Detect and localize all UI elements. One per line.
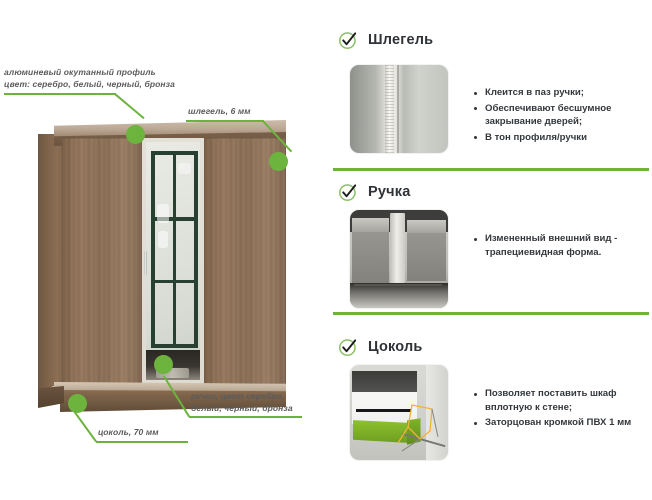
door-panel-right xyxy=(407,220,446,281)
window-mullion-horizontal-2 xyxy=(155,280,194,284)
feature-bullets-shlegel: Клеится в паз ручки; Обеспечивают бесшум… xyxy=(473,86,645,146)
callout-shlegel-marker xyxy=(269,152,288,171)
annotation-overlay xyxy=(350,365,448,460)
feature-section-shlegel: Шлегель Клеится в паз ручки; Обеспечиваю… xyxy=(330,0,652,170)
mirror-door-handle xyxy=(144,251,147,275)
reflected-window-frame xyxy=(151,151,198,348)
list-item: Обеспечивают бесшумное закрывание дверей… xyxy=(473,102,645,129)
callout-plinth-marker xyxy=(68,394,87,413)
check-circle-icon xyxy=(338,337,358,357)
mirror-glare-1 xyxy=(157,204,169,223)
feature-photo-ruchka xyxy=(350,210,448,308)
brush-strip xyxy=(385,65,394,153)
window-mullion-vertical xyxy=(173,155,177,344)
profile-seam xyxy=(397,65,399,153)
callout-profile-line2: цвет: серебро, белый, черный, бронза xyxy=(4,79,175,90)
photo-rail xyxy=(354,284,442,286)
callout-shlegel-underline xyxy=(186,120,264,122)
callout-profile-marker xyxy=(126,125,145,144)
check-circle-icon xyxy=(338,182,358,202)
callout-handles-underline xyxy=(189,416,302,418)
callout-profile-leader-line xyxy=(114,93,144,119)
product-illustration-panel: алюминевый окутанный профиль цвет: сереб… xyxy=(0,0,330,500)
mirror-glare-3 xyxy=(178,163,191,174)
feature-section-ruchka: Ручка Измененный внешний вид - трапециев… xyxy=(330,170,652,315)
door-panel-right-top xyxy=(407,220,446,233)
callout-profile-underline xyxy=(4,93,116,95)
feature-photo-shlegel xyxy=(350,65,448,153)
list-item: Клеится в паз ручки; xyxy=(473,86,645,100)
mirror-surface xyxy=(146,142,200,380)
feature-title-shlegel: Шлегель xyxy=(368,32,433,48)
mirror-door-frame xyxy=(142,138,204,384)
list-item: Измененный внешний вид - трапециевидная … xyxy=(473,232,645,259)
mirror-glare-2 xyxy=(158,231,168,248)
features-panel: Шлегель Клеится в паз ручки; Обеспечиваю… xyxy=(330,0,652,500)
door-panel-left-top xyxy=(352,218,389,232)
feature-heading-ruchka: Ручка xyxy=(338,182,410,202)
callout-profile-line1: алюминевый окутанный профиль xyxy=(4,67,156,78)
feature-title-ruchka: Ручка xyxy=(368,184,410,200)
feature-heading-shlegel: Шлегель xyxy=(338,30,433,50)
check-circle-icon xyxy=(338,30,358,50)
feature-section-tsokol: Цоколь Позволяет поставить xyxy=(330,315,652,500)
feature-bullets-tsokol: Позволяет поставить шкаф вплотную к стен… xyxy=(473,387,652,432)
callout-plinth-text: цоколь, 70 мм xyxy=(98,427,159,438)
slide-root: алюминевый окутанный профиль цвет: сереб… xyxy=(0,0,652,500)
wardrobe-door-right xyxy=(204,138,286,384)
wardrobe-door-middle-mirror xyxy=(142,138,204,384)
callout-handles-line2: белый, черный, бронза xyxy=(191,403,293,414)
feature-bullets-ruchka: Измененный внешний вид - трапециевидная … xyxy=(473,232,645,261)
callout-handles-marker xyxy=(154,355,173,374)
list-item: Позволяет поставить шкаф вплотную к стен… xyxy=(473,387,652,414)
callout-shlegel-text: шлегель, 6 мм xyxy=(188,106,251,117)
callout-plinth-underline xyxy=(96,441,188,443)
feature-photo-tsokol xyxy=(350,365,448,460)
list-item: Заторцован кромкой ПВХ 1 мм xyxy=(473,416,652,430)
list-item: В тон профиля/ручки xyxy=(473,131,645,145)
trapezoid-handle xyxy=(390,213,405,289)
door-panel-left xyxy=(352,218,389,283)
wardrobe-door-left xyxy=(62,138,142,384)
feature-heading-tsokol: Цоколь xyxy=(338,337,423,357)
callout-handles-line1: ручки, цвет серебро, xyxy=(191,391,284,402)
feature-title-tsokol: Цоколь xyxy=(368,339,423,355)
wardrobe-doors xyxy=(62,138,286,384)
